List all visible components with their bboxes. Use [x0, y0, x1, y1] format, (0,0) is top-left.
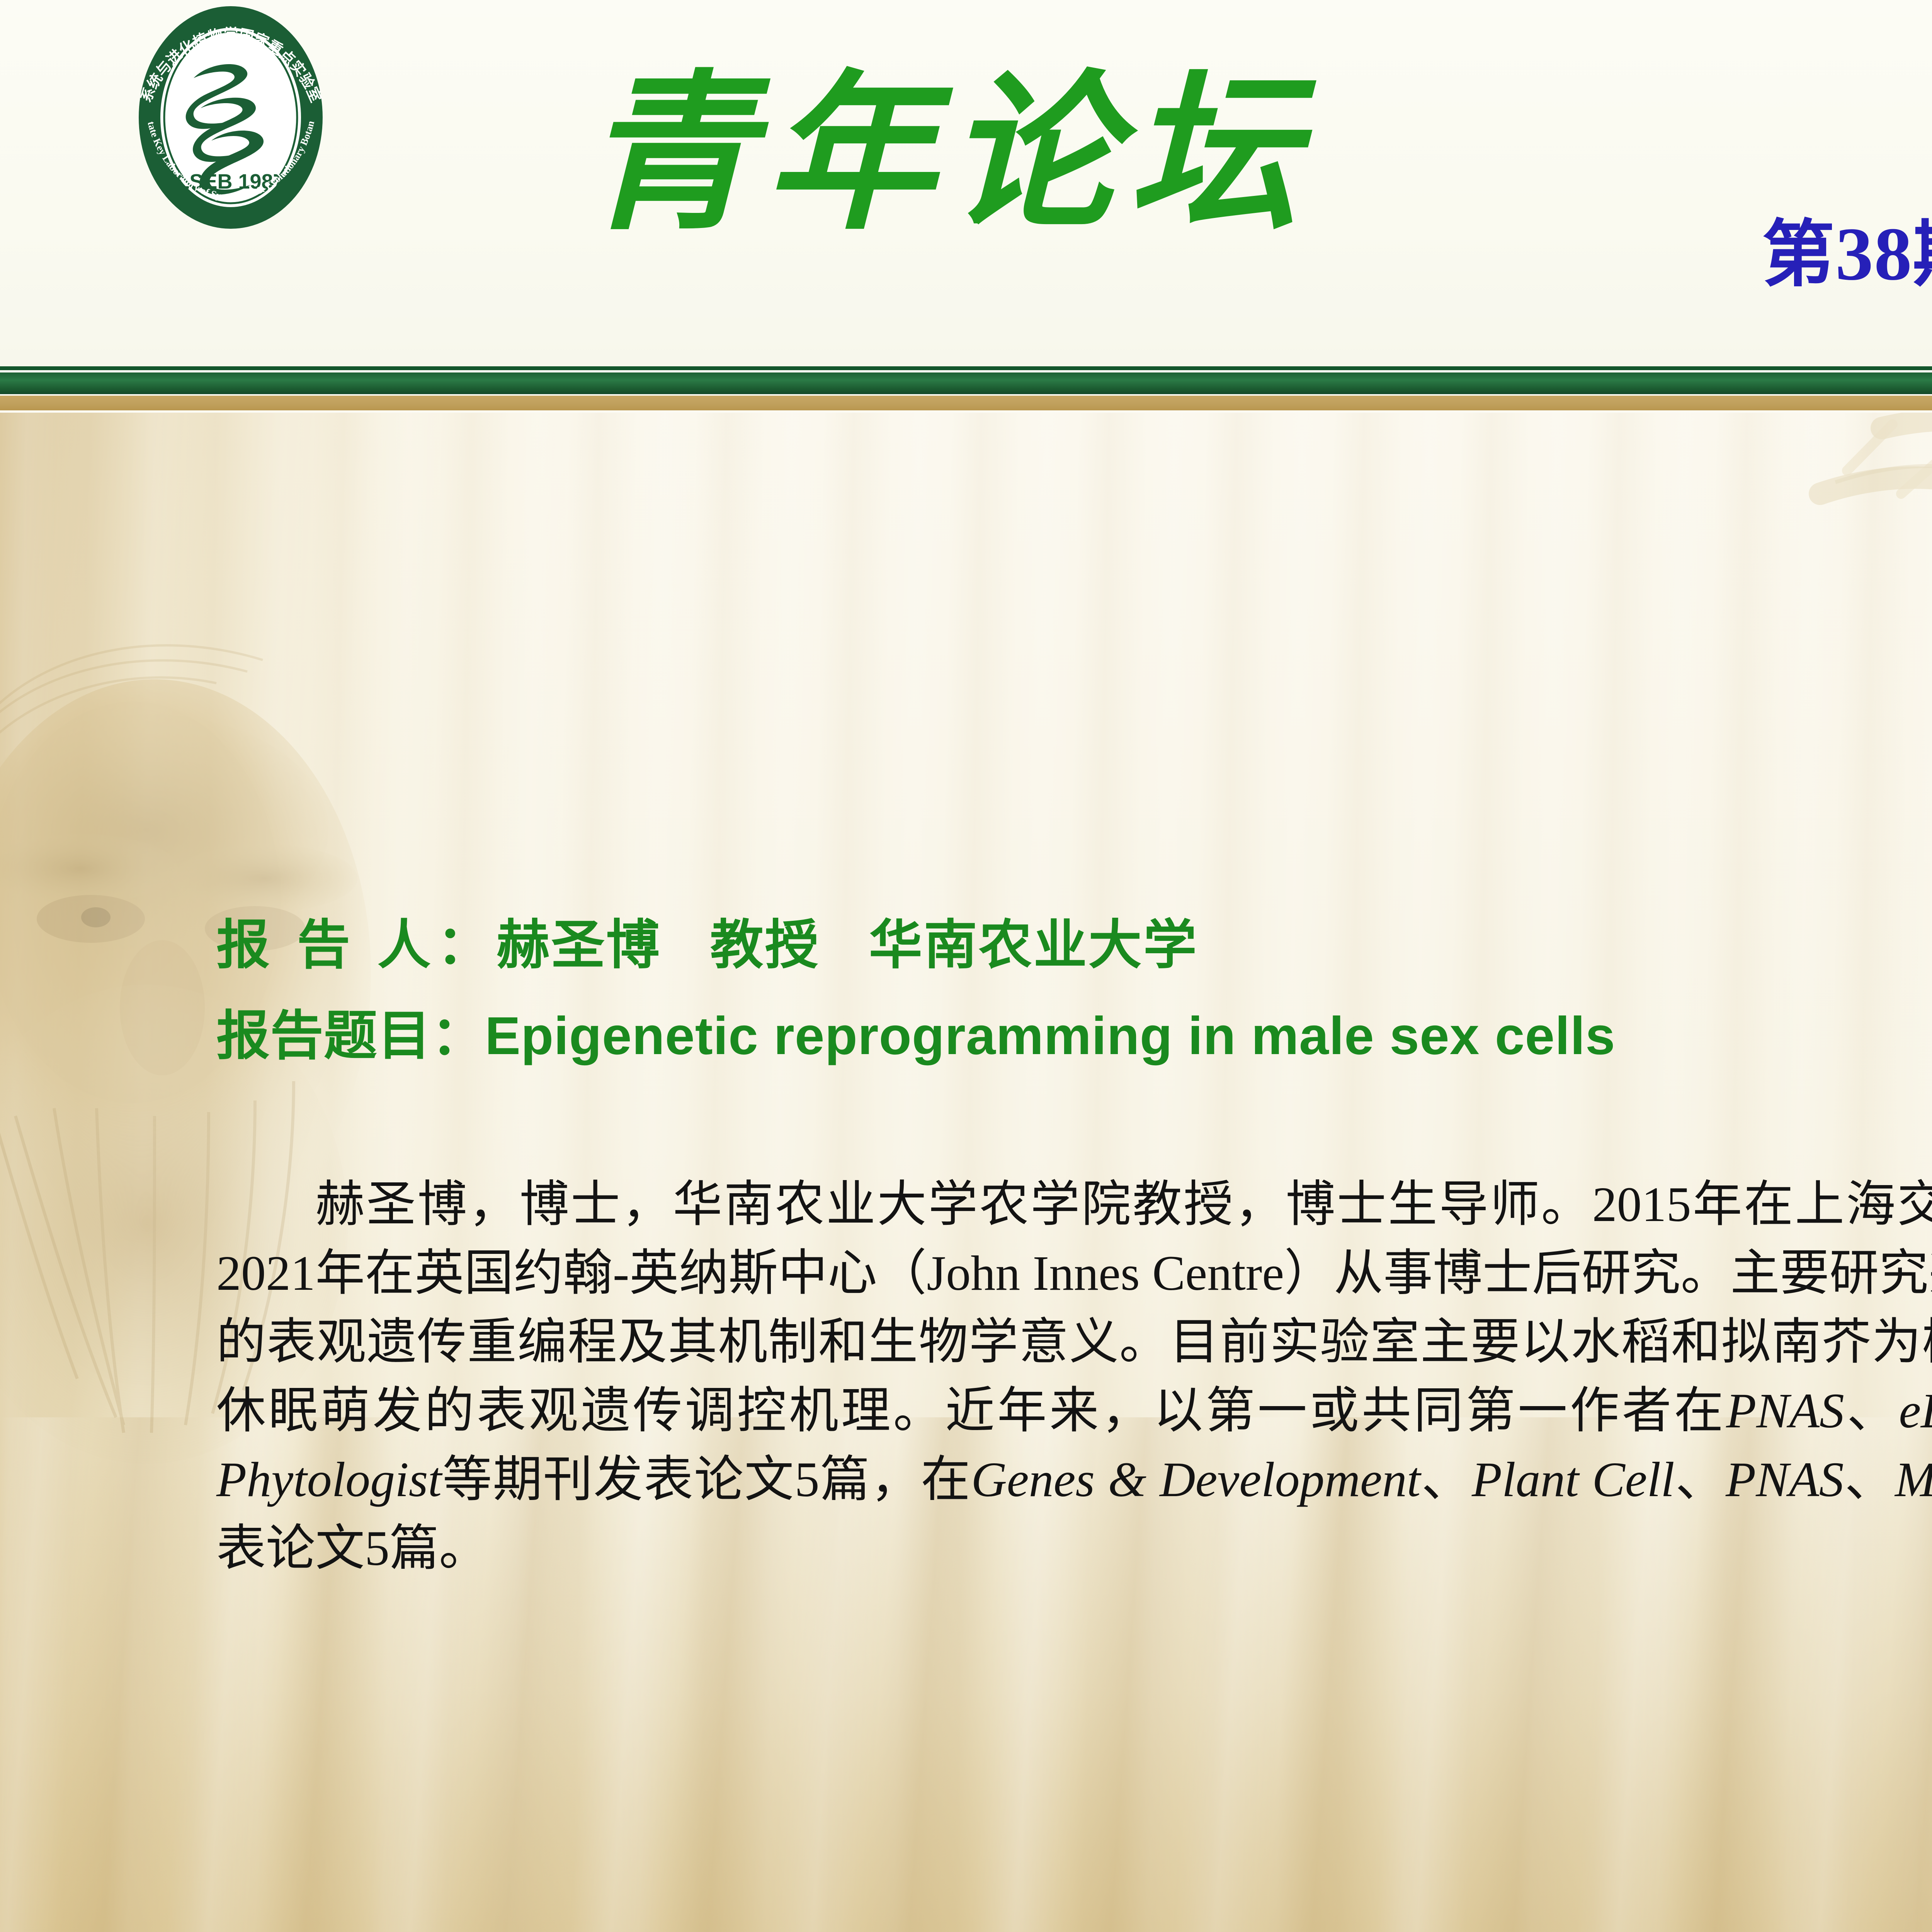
divider-rule: [0, 366, 1932, 370]
lseb-logo: LSEB 1987 系统与进化植物学国家重点实验室 State Key Labo…: [118, 5, 344, 231]
sep-1: 、: [1844, 1383, 1899, 1438]
speaker-name: 赫圣博: [497, 915, 661, 975]
journal-plant-cell: Plant Cell: [1472, 1452, 1675, 1507]
page-title-text: 青年论坛: [583, 61, 1317, 250]
speaker-title: 教授: [710, 915, 820, 975]
journal-genes-dev: Genes & Development: [971, 1452, 1420, 1507]
speaker-row: 报 告 人：赫圣博 教授 华南农业大学: [216, 901, 1198, 979]
sep-5: 、: [1420, 1452, 1471, 1507]
speaker-affiliation: 华南农业大学: [869, 915, 1198, 975]
topic-title: Epigenetic reprogramming in male sex cel…: [485, 1006, 1616, 1066]
poster-root: LSEB 1987 系统与进化植物学国家重点实验室 State Key Labo…: [0, 0, 1932, 1932]
issue-prefix: 第: [1762, 214, 1835, 295]
journal-pnas-1: PNAS: [1726, 1383, 1844, 1438]
bio-mid: 等期刊发表论文5篇，在: [442, 1452, 971, 1507]
issue-suffix: 期: [1913, 214, 1932, 295]
page-title: 青年论坛: [583, 46, 1511, 263]
sep-7: 、: [1844, 1452, 1895, 1507]
journal-molecular-plant-2: Molecular Plant: [1895, 1452, 1932, 1507]
biography-paragraph: 赫圣博，博士，华南农业大学农学院教授，博士生导师。2015年在上海交通大学获博士…: [216, 1170, 1932, 1583]
journal-pnas-2: PNAS: [1726, 1452, 1844, 1507]
biography-block: 赫圣博，博士，华南农业大学农学院教授，博士生导师。2015年在上海交通大学获博士…: [216, 1170, 1932, 1583]
sep-6: 、: [1675, 1452, 1726, 1507]
issue-number: 38: [1835, 212, 1913, 296]
issue-badge: 第38期: [1762, 216, 1932, 292]
journal-elife: eLife: [1899, 1383, 1932, 1438]
topic-label: 报告题目：: [216, 1006, 485, 1066]
poster-header: LSEB 1987 系统与进化植物学国家重点实验室 State Key Labo…: [0, 0, 1932, 368]
speaker-label: 报 告 人：: [216, 915, 497, 975]
poster-body: 报 告 人：赫圣博 教授 华南农业大学 报告题目：Epigenetic repr…: [0, 413, 1932, 1932]
bio-part-1: 赫圣博，博士，华南农业大学农学院教授，博士生导师。2015年在上海交通大学获博士…: [216, 1177, 1932, 1438]
header-divider: [0, 366, 1932, 413]
divider-green-band: [0, 372, 1932, 394]
topic-row: 报告题目：Epigenetic reprogramming in male se…: [216, 992, 1616, 1070]
divider-gold-band: [0, 396, 1932, 410]
